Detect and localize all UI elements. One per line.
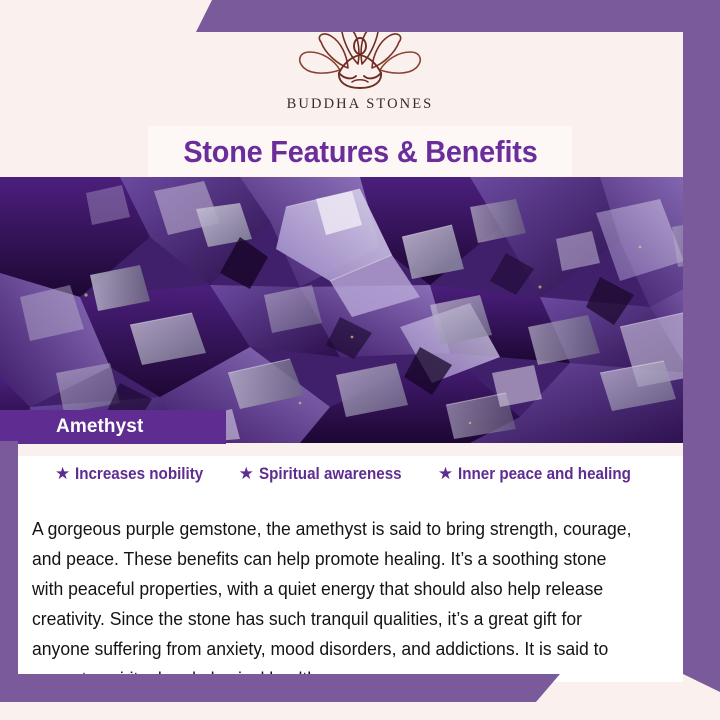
benefit-label: Inner peace and healing [458,465,631,484]
brand-name: BUDDHA STONES [287,96,434,113]
frame-bottom-accent [0,674,560,702]
star-icon: ★ [438,465,453,482]
title-plate: Stone Features & Benefits [148,126,572,178]
content-card: ★ Increases nobility ★ Spiritual awarene… [18,443,683,682]
star-icon: ★ [55,465,70,482]
amethyst-crystal-cluster-photo [0,177,720,443]
infographic-page: BUDDHA STONES Stone Features & Benefits [0,0,720,720]
frame-right-accent [683,0,720,692]
benefit-label: Spiritual awareness [259,465,402,484]
frame-left-accent [0,441,18,692]
lotus-meditation-icon [294,24,426,92]
star-icon: ★ [239,465,254,482]
card-top-tint [18,443,683,456]
benefit-item: ★ Spiritual awareness [239,465,414,484]
brand-logo: BUDDHA STONES [0,24,720,113]
benefit-label: Increases nobility [75,465,203,484]
benefit-item: ★ Increases nobility [55,465,215,484]
frame-top-accent [196,0,720,32]
stone-name-text: Amethyst [56,416,143,438]
stone-description: A gorgeous purple gemstone, the amethyst… [32,514,637,694]
stone-name-label: Amethyst [0,410,226,444]
benefits-list: ★ Increases nobility ★ Spiritual awarene… [18,465,683,484]
page-title: Stone Features & Benefits [183,134,537,170]
benefit-item: ★ Inner peace and healing [438,465,646,484]
